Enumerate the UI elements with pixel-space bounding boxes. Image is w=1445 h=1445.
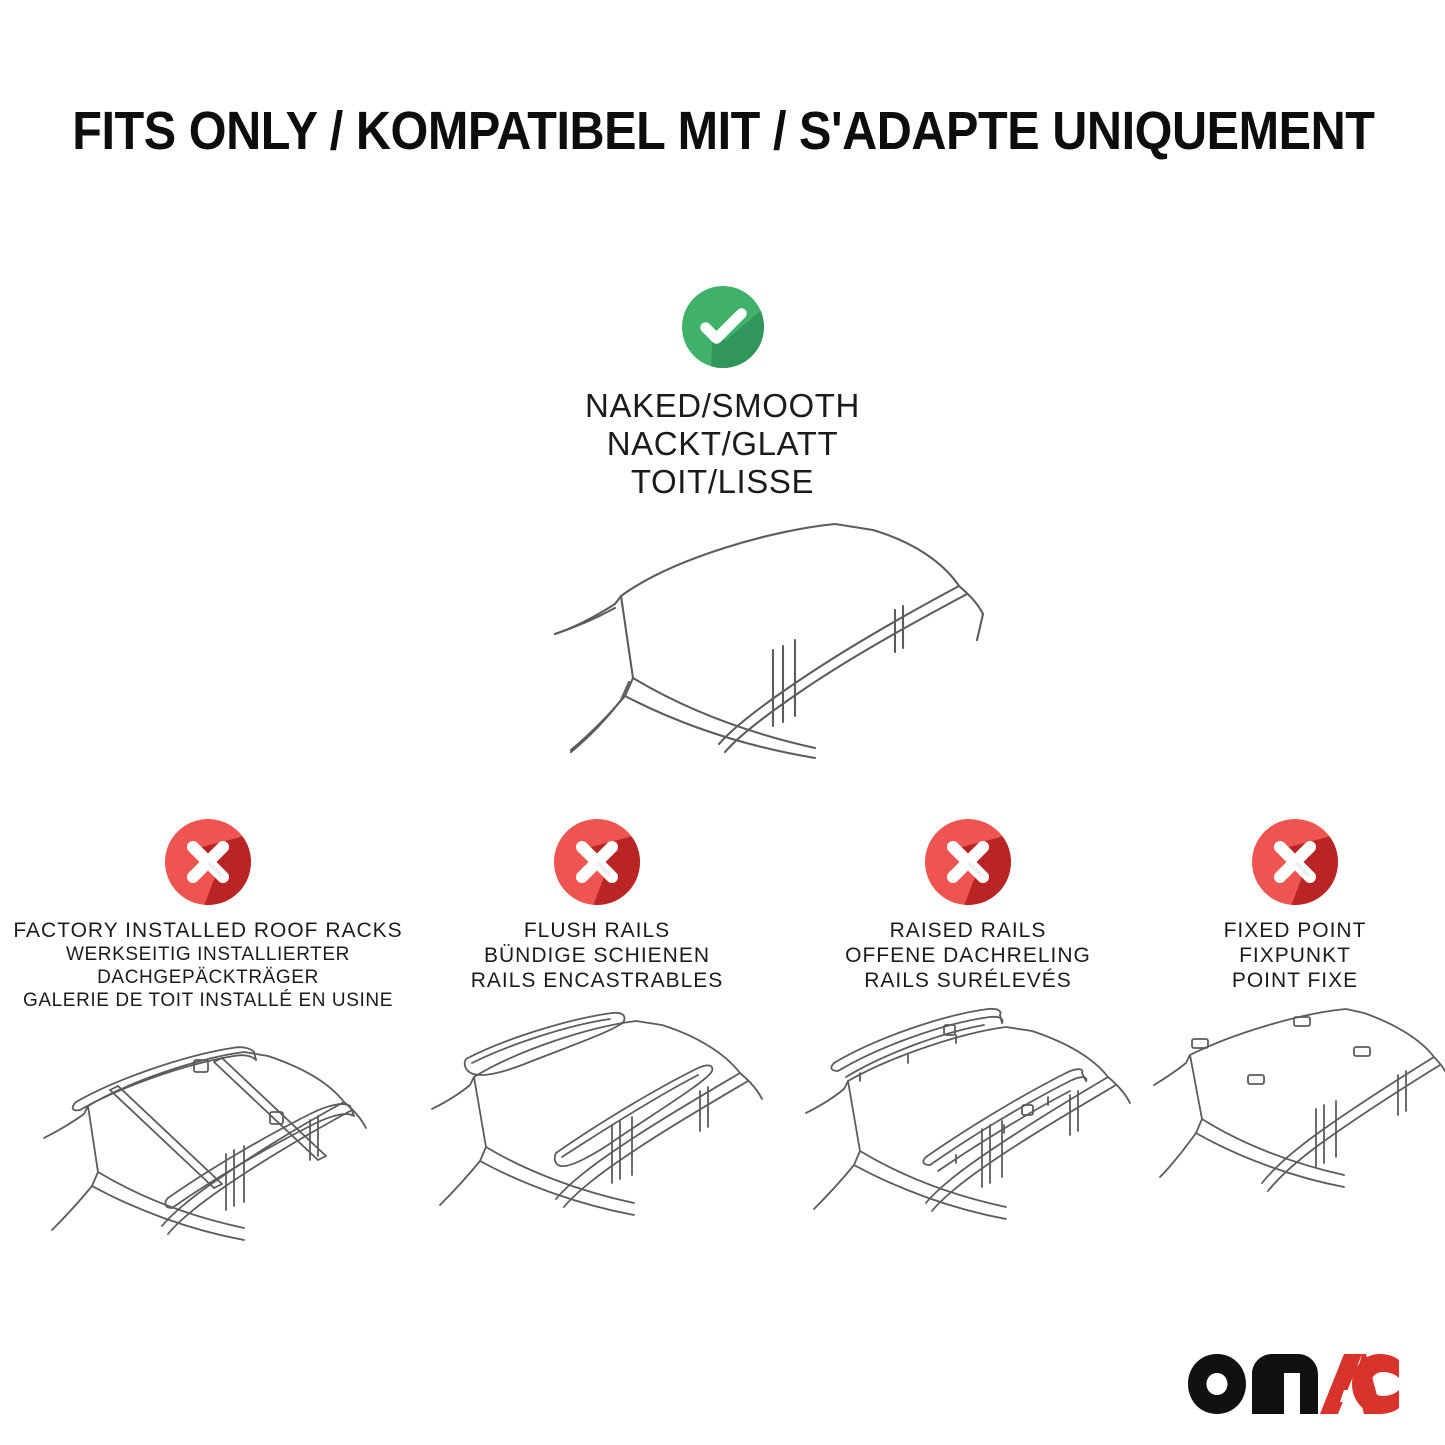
incompatible-item-factory-roof-racks: FACTORY INSTALLED ROOF RACKS WERKSEITIG …	[8, 818, 408, 1255]
car-roof-naked-smooth-illustration	[0, 500, 1445, 765]
incompatible-icon-wrap	[412, 818, 782, 914]
label-en: FLUSH RAILS	[412, 918, 782, 943]
page-title: FITS ONLY / KOMPATIBEL MIT / S'ADAPTE UN…	[72, 101, 1373, 161]
incompatible-item-fixed-point: FIXED POINT FIXPUNKT POINT FIXE	[1150, 818, 1440, 1236]
label-en: RAISED RAILS	[790, 918, 1146, 943]
cross-circle-icon	[164, 818, 252, 906]
label-en: FIXED POINT	[1150, 918, 1440, 943]
compatible-label-de: NACKT/GLATT	[0, 425, 1445, 463]
car-roof-raised-rails-illustration	[790, 1001, 1146, 1236]
incompatible-labels: FIXED POINT FIXPUNKT POINT FIXE	[1150, 918, 1440, 993]
label-fr: POINT FIXE	[1150, 968, 1440, 993]
compatible-label-fr: TOIT/LISSE	[0, 463, 1445, 501]
car-roof-flush-rails-illustration	[412, 1001, 782, 1236]
label-fr: RAILS SURÉLEVÉS	[790, 968, 1146, 993]
incompatible-icon-wrap	[1150, 818, 1440, 914]
incompatible-section: FACTORY INSTALLED ROOF RACKS WERKSEITIG …	[0, 818, 1445, 1258]
label-en: FACTORY INSTALLED ROOF RACKS	[8, 918, 408, 943]
incompatible-icon-wrap	[8, 818, 408, 914]
incompatible-labels: RAISED RAILS OFFENE DACHRELING RAILS SUR…	[790, 918, 1146, 993]
label-de: BÜNDIGE SCHIENEN	[412, 943, 782, 968]
cross-circle-icon	[553, 818, 641, 906]
compatible-section: NAKED/SMOOTH NACKT/GLATT TOIT/LISSE	[0, 285, 1445, 501]
incompatible-labels: FACTORY INSTALLED ROOF RACKS WERKSEITIG …	[8, 918, 408, 1012]
label-de-1: WERKSEITIG INSTALLIERTER	[8, 943, 408, 966]
incompatible-item-raised-rails: RAISED RAILS OFFENE DACHRELING RAILS SUR…	[790, 818, 1146, 1236]
label-de: OFFENE DACHRELING	[790, 943, 1146, 968]
car-roof-fixed-point-illustration	[1150, 1001, 1440, 1236]
cross-circle-icon	[924, 818, 1012, 906]
label-de-2: DACHGEPÄCKTRÄGER	[8, 966, 408, 989]
label-fr: RAILS ENCASTRABLES	[412, 968, 782, 993]
label-fr: GALERIE DE TOIT INSTALLÉ EN USINE	[8, 989, 408, 1012]
fitment-compatibility-infographic: FITS ONLY / KOMPATIBEL MIT / S'ADAPTE UN…	[0, 0, 1445, 1445]
compatible-label-en: NAKED/SMOOTH	[0, 387, 1445, 425]
cross-circle-icon	[1251, 818, 1339, 906]
incompatible-icon-wrap	[790, 818, 1146, 914]
check-circle-icon	[681, 285, 765, 369]
compatible-labels: NAKED/SMOOTH NACKT/GLATT TOIT/LISSE	[0, 387, 1445, 501]
incompatible-item-flush-rails: FLUSH RAILS BÜNDIGE SCHIENEN RAILS ENCAS…	[412, 818, 782, 1236]
incompatible-labels: FLUSH RAILS BÜNDIGE SCHIENEN RAILS ENCAS…	[412, 918, 782, 993]
car-roof-factory-roof-racks-illustration	[8, 1020, 408, 1255]
omac-logo	[1186, 1352, 1401, 1416]
label-de: FIXPUNKT	[1150, 943, 1440, 968]
compatible-icon-wrap	[0, 285, 1445, 377]
